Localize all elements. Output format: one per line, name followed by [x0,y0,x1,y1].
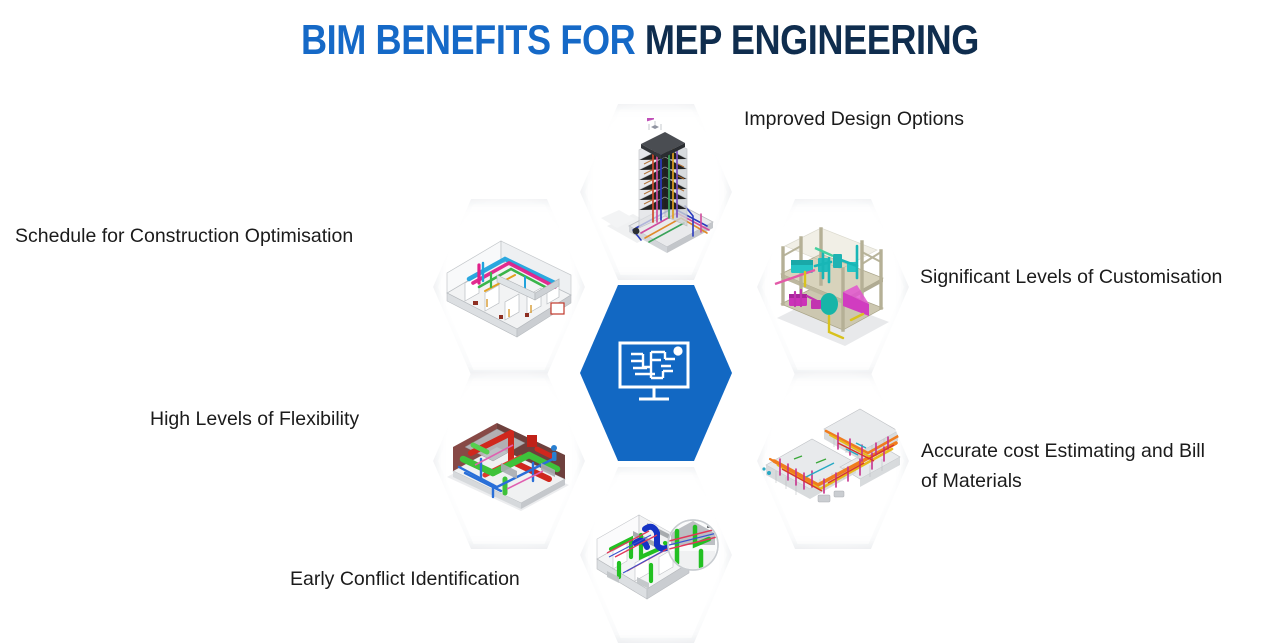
hex-tile-schedule-for-construction-optimisation[interactable] [433,199,585,375]
infographic-page: BIM BENEFITS FOR MEP ENGINEERING [0,0,1280,644]
hex-tile-significant-levels-of-customisation[interactable] [757,199,909,375]
hex-tile-accurate-cost-estimating-and-bill-of-materials[interactable] [757,373,909,549]
hexagon-honeycomb [0,0,1280,644]
monitor-workflow-icon [617,340,695,406]
label-improved-design-options: Improved Design Options [744,104,964,134]
bim-clash-detection-model-image [589,493,723,617]
bim-rgb-ductwork-model-image [441,401,577,521]
hex-tile-high-levels-of-flexibility[interactable] [433,373,585,549]
label-accurate-cost-estimating-and-bill-of-materials: Accurate cost Estimating and Bill of Mat… [921,436,1221,496]
bim-highrise-mep-model-image [589,118,723,266]
label-early-conflict-identification: Early Conflict Identification [290,564,520,594]
label-significant-levels-of-customisation: Significant Levels of Customisation [920,262,1222,292]
hex-tile-center-bim-mep[interactable] [580,285,732,461]
hex-tile-early-conflict-identification[interactable] [580,467,732,643]
label-schedule-for-construction-optimisation: Schedule for Construction Optimisation [15,221,353,251]
hex-tile-improved-design-options[interactable] [580,104,732,280]
bim-plant-skid-model-image [771,222,895,352]
bim-u-shaped-piping-model-image [760,403,906,519]
bim-floorplate-duct-model-image [439,221,579,353]
label-high-levels-of-flexibility: High Levels of Flexibility [150,404,359,434]
